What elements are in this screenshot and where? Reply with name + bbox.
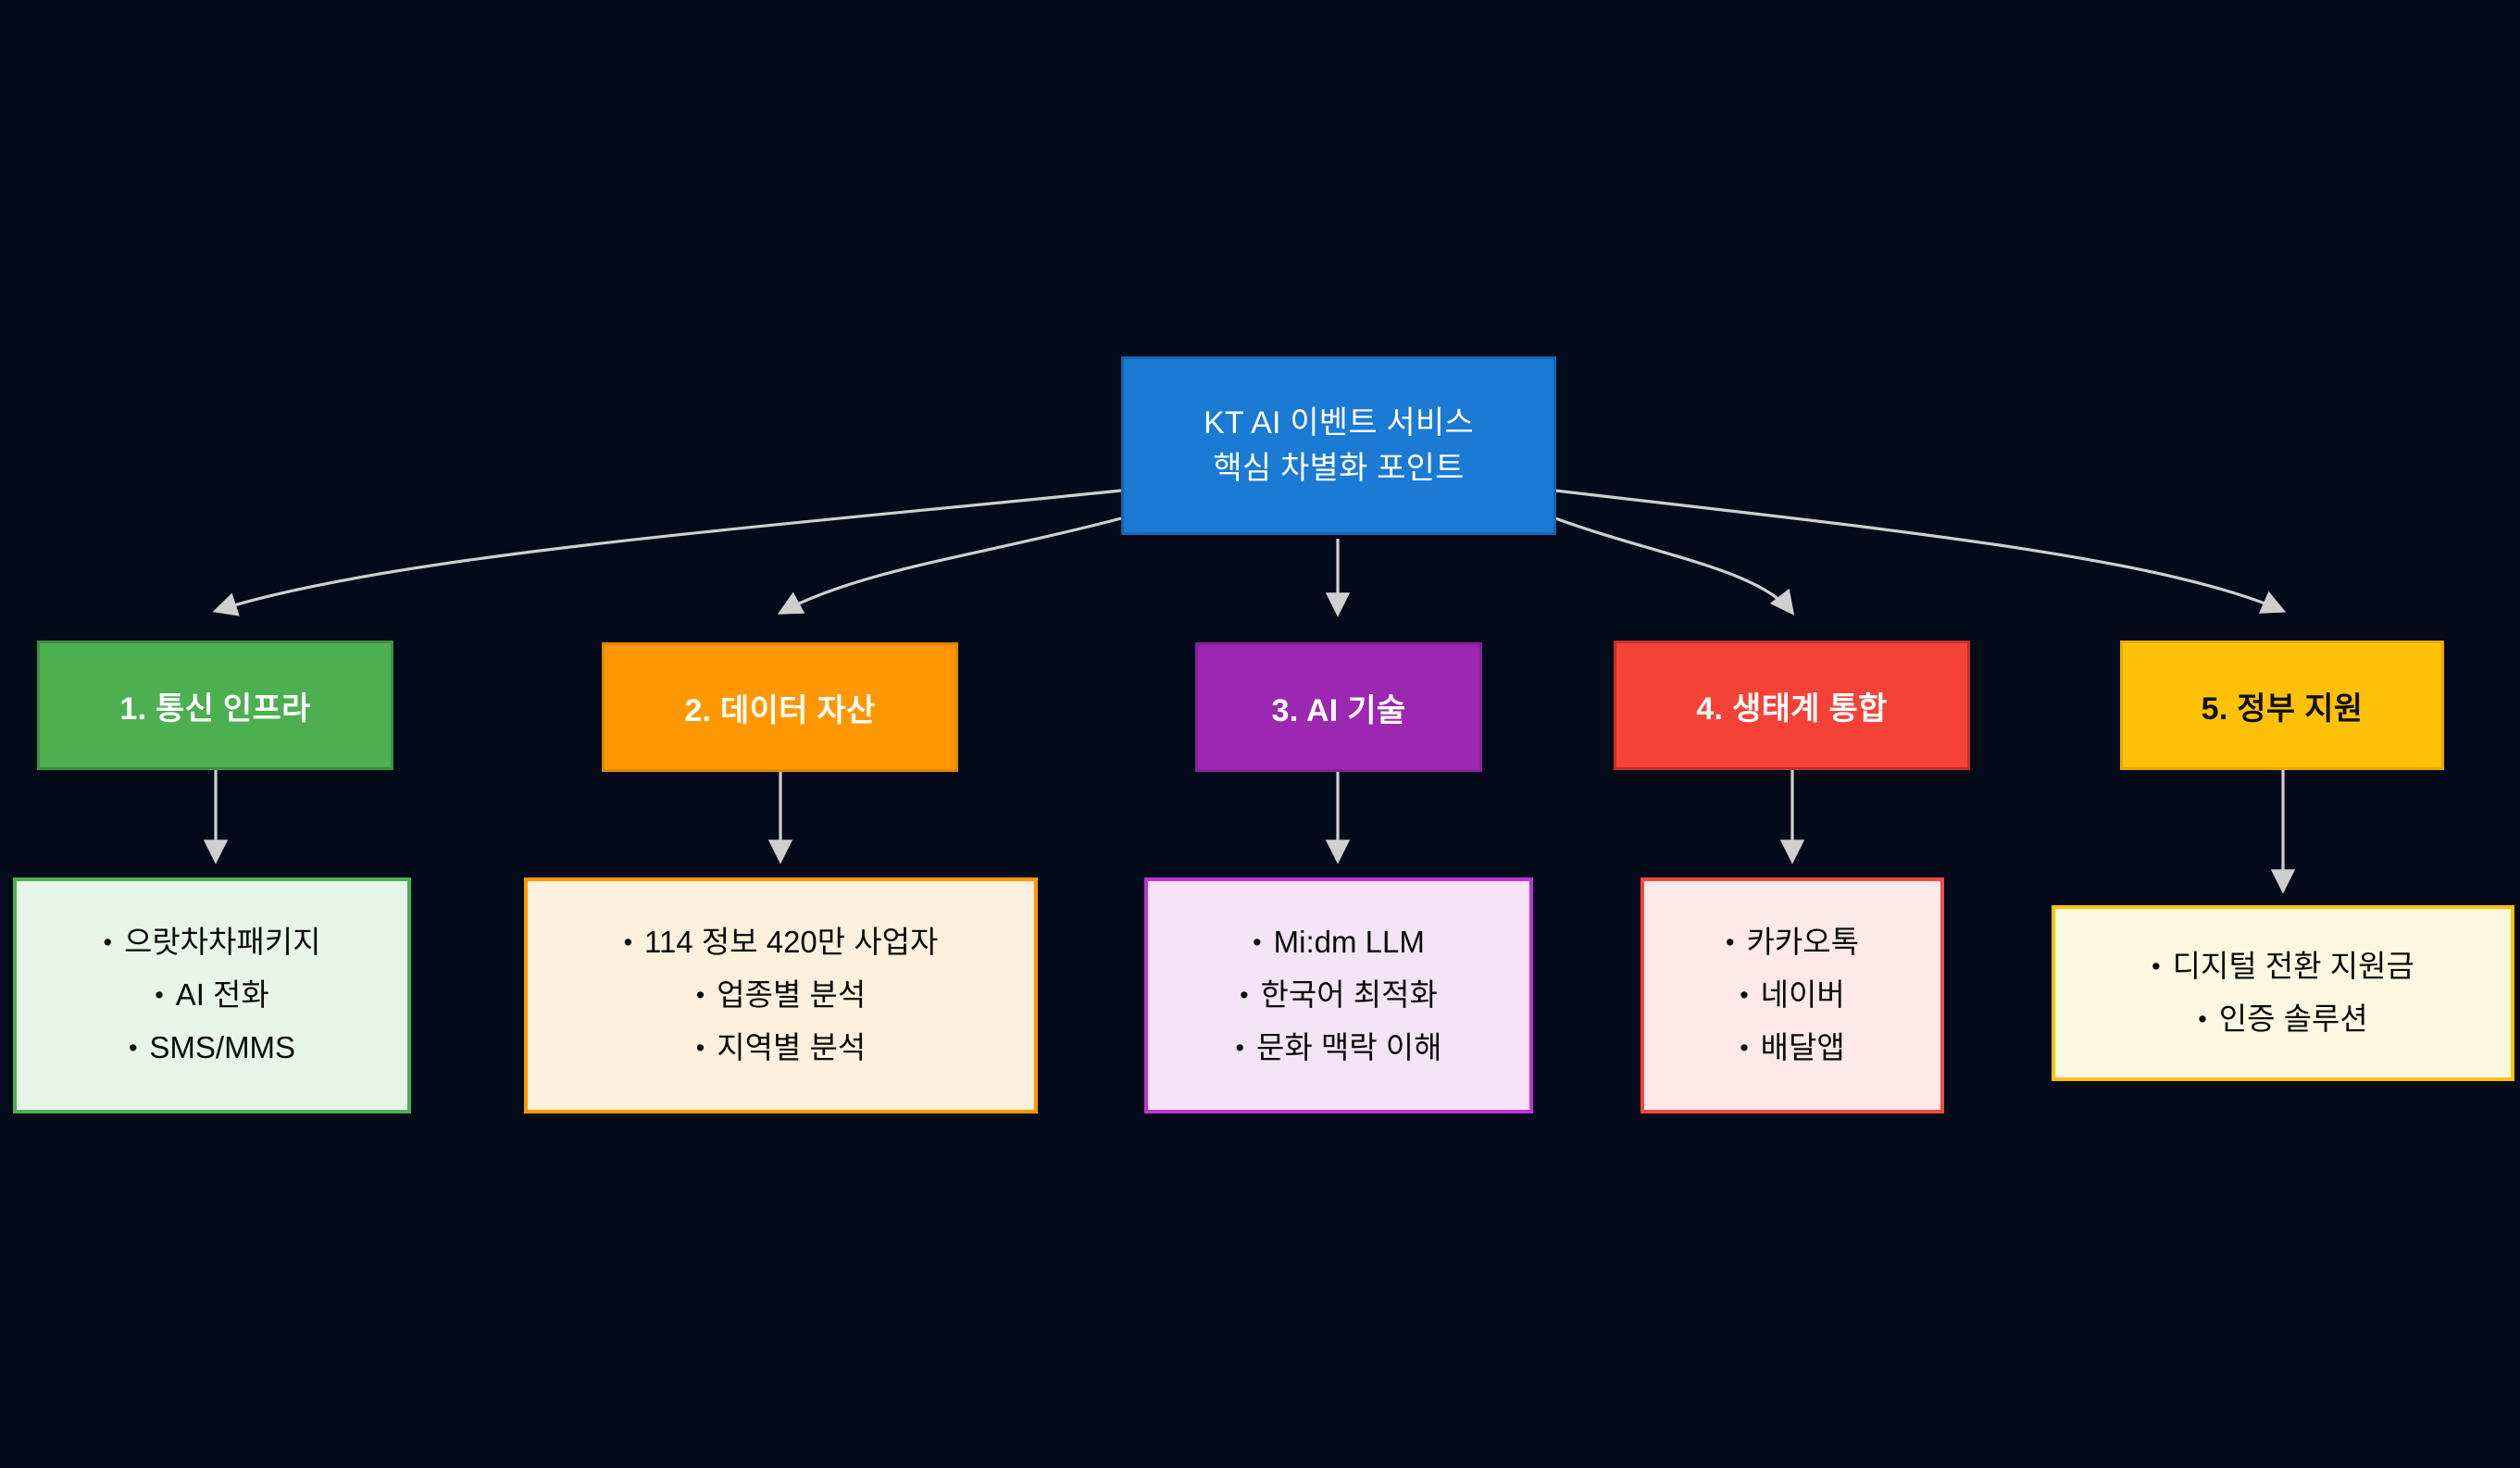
edge-root-to-branch-4 bbox=[1555, 518, 1792, 613]
list-item: 네이버 bbox=[1659, 978, 1926, 1013]
list-item: 으랏차차패키지 bbox=[31, 926, 393, 960]
list-item: AI 전화 bbox=[31, 978, 393, 1013]
edge-root-to-branch-1 bbox=[216, 491, 1121, 611]
branch-node-4[interactable]: 4. 생태계 통합 bbox=[1614, 641, 1970, 770]
root-node-line-2: 핵심 차별화 포인트 bbox=[1213, 446, 1464, 491]
detail-node-5-list: 디지털 전환 지원금 인증 솔루션 bbox=[2070, 950, 2496, 1037]
list-item: 업종별 분석 bbox=[543, 978, 1019, 1013]
detail-node-1-list: 으랏차차패키지 AI 전화 SMS/MMS bbox=[31, 926, 393, 1065]
list-item: 카카오톡 bbox=[1659, 926, 1926, 960]
detail-node-5[interactable]: 디지털 전환 지원금 인증 솔루션 bbox=[2052, 905, 2514, 1081]
branch-node-2[interactable]: 2. 데이터 자산 bbox=[602, 642, 958, 772]
detail-node-4-list: 카카오톡 네이버 배달앱 bbox=[1659, 926, 1926, 1065]
root-node[interactable]: KT AI 이벤트 서비스 핵심 차별화 포인트 bbox=[1121, 356, 1556, 535]
list-item: 114 정보 420만 사업자 bbox=[543, 926, 1019, 960]
list-item: Mi:dm LLM bbox=[1163, 926, 1515, 960]
branch-node-3-label: 3. AI 기술 bbox=[1272, 685, 1406, 730]
branch-node-1[interactable]: 1. 통신 인프라 bbox=[37, 641, 393, 770]
list-item: 지역별 분석 bbox=[543, 1031, 1019, 1065]
list-item: 문화 맥락 이해 bbox=[1163, 1031, 1515, 1065]
list-item: 배달앱 bbox=[1659, 1031, 1926, 1065]
list-item: 인증 솔루션 bbox=[2070, 1002, 2496, 1037]
branch-node-3[interactable]: 3. AI 기술 bbox=[1195, 642, 1482, 772]
detail-node-1[interactable]: 으랏차차패키지 AI 전화 SMS/MMS bbox=[13, 877, 411, 1113]
list-item: 한국어 최적화 bbox=[1163, 978, 1515, 1013]
branch-node-5[interactable]: 5. 정부 지원 bbox=[2120, 641, 2444, 770]
edge-root-to-branch-2 bbox=[780, 518, 1121, 613]
detail-node-4[interactable]: 카카오톡 네이버 배달앱 bbox=[1640, 877, 1944, 1113]
diagram-canvas: KT AI 이벤트 서비스 핵심 차별화 포인트 1. 통신 인프라 으랏차차패… bbox=[0, 0, 2520, 1468]
branch-node-2-label: 2. 데이터 자산 bbox=[684, 685, 875, 730]
detail-node-3[interactable]: Mi:dm LLM 한국어 최적화 문화 맥락 이해 bbox=[1144, 877, 1533, 1113]
branch-node-1-label: 1. 통신 인프라 bbox=[119, 683, 310, 728]
detail-node-2-list: 114 정보 420만 사업자 업종별 분석 지역별 분석 bbox=[543, 926, 1019, 1065]
list-item: SMS/MMS bbox=[31, 1031, 393, 1065]
list-item: 디지털 전환 지원금 bbox=[2070, 950, 2496, 984]
branch-node-5-label: 5. 정부 지원 bbox=[2202, 683, 2364, 728]
edge-root-to-branch-5 bbox=[1555, 491, 2283, 611]
detail-node-2[interactable]: 114 정보 420만 사업자 업종별 분석 지역별 분석 bbox=[524, 877, 1038, 1113]
root-node-line-1: KT AI 이벤트 서비스 bbox=[1204, 401, 1474, 445]
branch-node-4-label: 4. 생태계 통합 bbox=[1696, 683, 1887, 728]
detail-node-3-list: Mi:dm LLM 한국어 최적화 문화 맥락 이해 bbox=[1163, 926, 1515, 1065]
